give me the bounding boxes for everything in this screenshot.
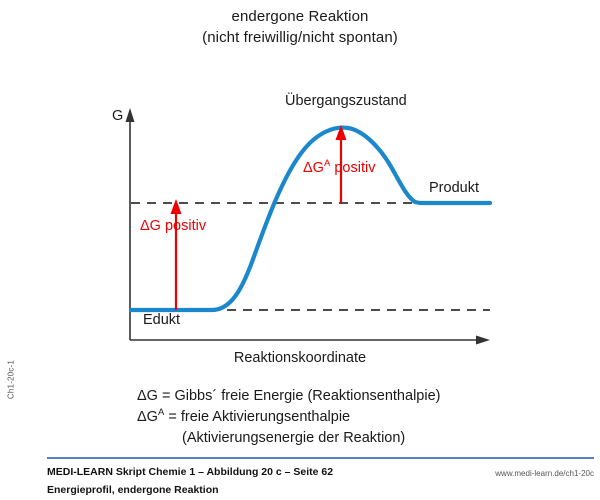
legend-delta-ga-text: = freie Aktivierungsenthalpie: [164, 409, 350, 425]
delta-g-text: positiv: [161, 218, 206, 234]
y-axis-label: G: [112, 108, 123, 124]
transition-state-label: Übergangszustand: [285, 93, 407, 109]
energy-profile-chart: G Übergangszustand Produkt Edukt ΔG posi…: [0, 0, 600, 380]
product-label: Produkt: [429, 180, 479, 196]
delta-g-activation-label: ΔGA positiv: [303, 160, 375, 176]
x-axis-label: Reaktionskoordinate: [0, 350, 600, 366]
delta-ga-symbol: ΔG: [303, 160, 324, 176]
delta-g-arrow: [171, 199, 182, 310]
footer-divider: [47, 457, 594, 459]
x-axis: [130, 336, 490, 345]
chart-canvas: [0, 0, 600, 380]
figure-side-tag: Ch1-20c-1: [7, 345, 16, 415]
legend-row-delta-ga-cont: (Aktivierungsenergie der Reaktion): [0, 428, 600, 449]
y-axis: [126, 108, 135, 340]
legend-delta-g-text: = Gibbs´ freie Energie (Reaktionsenthalp…: [158, 388, 441, 404]
delta-g-label: ΔG positiv: [140, 218, 206, 234]
footer-source-line: MEDI-LEARN Skript Chemie 1 – Abbildung 2…: [47, 466, 333, 478]
reactant-label: Edukt: [143, 312, 180, 328]
legend-delta-ga-symbol: ΔG: [137, 409, 158, 425]
legend-row-delta-ga: ΔGA = freie Aktivierungsenthalpie: [0, 407, 600, 428]
delta-ga-text: positiv: [330, 160, 375, 176]
footer-url: www.medi-learn.de/ch1-20c: [495, 469, 594, 478]
legend-delta-g-symbol: ΔG: [137, 388, 158, 404]
footer-caption-line: Energieprofil, endergone Reaktion: [47, 484, 219, 496]
legend-row-delta-g: ΔG = Gibbs´ freie Energie (Reaktionsenth…: [0, 386, 600, 407]
legend-definitions: ΔG = Gibbs´ freie Energie (Reaktionsenth…: [0, 386, 600, 449]
delta-g-symbol: ΔG: [140, 218, 161, 234]
